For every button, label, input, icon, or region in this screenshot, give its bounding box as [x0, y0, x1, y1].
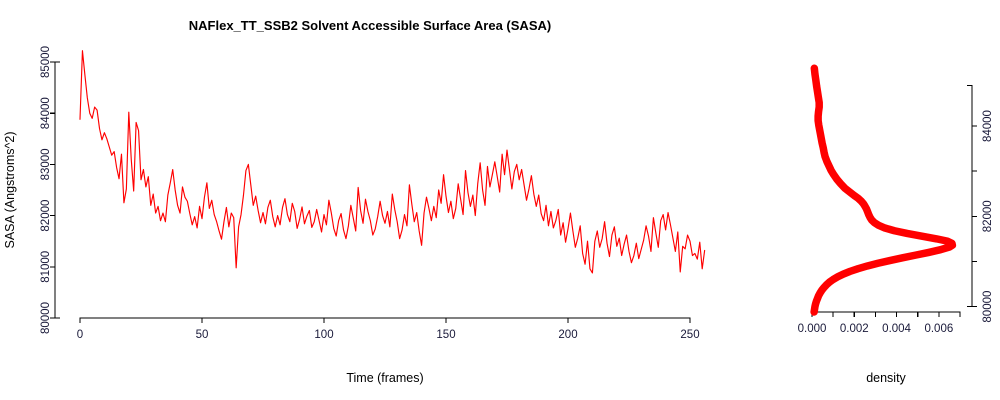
- density-x-tick-label: 0.006: [924, 323, 953, 335]
- x-tick-label: 50: [196, 329, 209, 341]
- timeseries-panel: 0501001502002508000081000820008300084000…: [0, 0, 740, 400]
- x-tick-label: 250: [680, 329, 699, 341]
- density-y-tick-label: 82000: [982, 200, 994, 232]
- density-x-tick-label: 0.004: [882, 323, 911, 335]
- x-axis-line: [80, 318, 690, 323]
- x-axis-title: Time (frames): [346, 371, 423, 385]
- density-x-tick-label: 0.002: [840, 323, 869, 335]
- y-tick-label: 80000: [40, 302, 52, 334]
- sasa-series-line: [80, 51, 705, 273]
- density-y-axis-line: [967, 85, 972, 306]
- density-plot: 0.0000.0020.0040.006density8000082000840…: [740, 0, 1000, 400]
- x-tick-label: 150: [436, 329, 455, 341]
- y-tick-label: 81000: [40, 251, 52, 283]
- chart-root: NAFlex_TT_SSB2 Solvent Accessible Surfac…: [0, 0, 1000, 400]
- density-y-tick-label: 80000: [982, 291, 994, 323]
- density-x-tick-label: 0.000: [798, 323, 827, 335]
- x-tick-label: 100: [314, 329, 333, 341]
- y-tick-label: 84000: [40, 97, 52, 129]
- x-tick-label: 0: [77, 329, 83, 341]
- y-tick-label: 82000: [40, 200, 52, 232]
- timeseries-plot: 0501001502002508000081000820008300084000…: [0, 0, 740, 400]
- y-tick-label: 85000: [40, 46, 52, 78]
- density-x-axis-title: density: [866, 371, 906, 385]
- y-tick-label: 83000: [40, 148, 52, 180]
- density-y-tick-label: 84000: [982, 110, 994, 142]
- y-axis-title: SASA (Angstroms^2): [3, 131, 17, 248]
- y-axis-line: [55, 62, 60, 318]
- density-x-axis-line: [812, 312, 960, 317]
- density-panel: 0.0000.0020.0040.006density8000082000840…: [740, 0, 1000, 400]
- density-curve: [814, 68, 952, 312]
- x-tick-label: 200: [558, 329, 577, 341]
